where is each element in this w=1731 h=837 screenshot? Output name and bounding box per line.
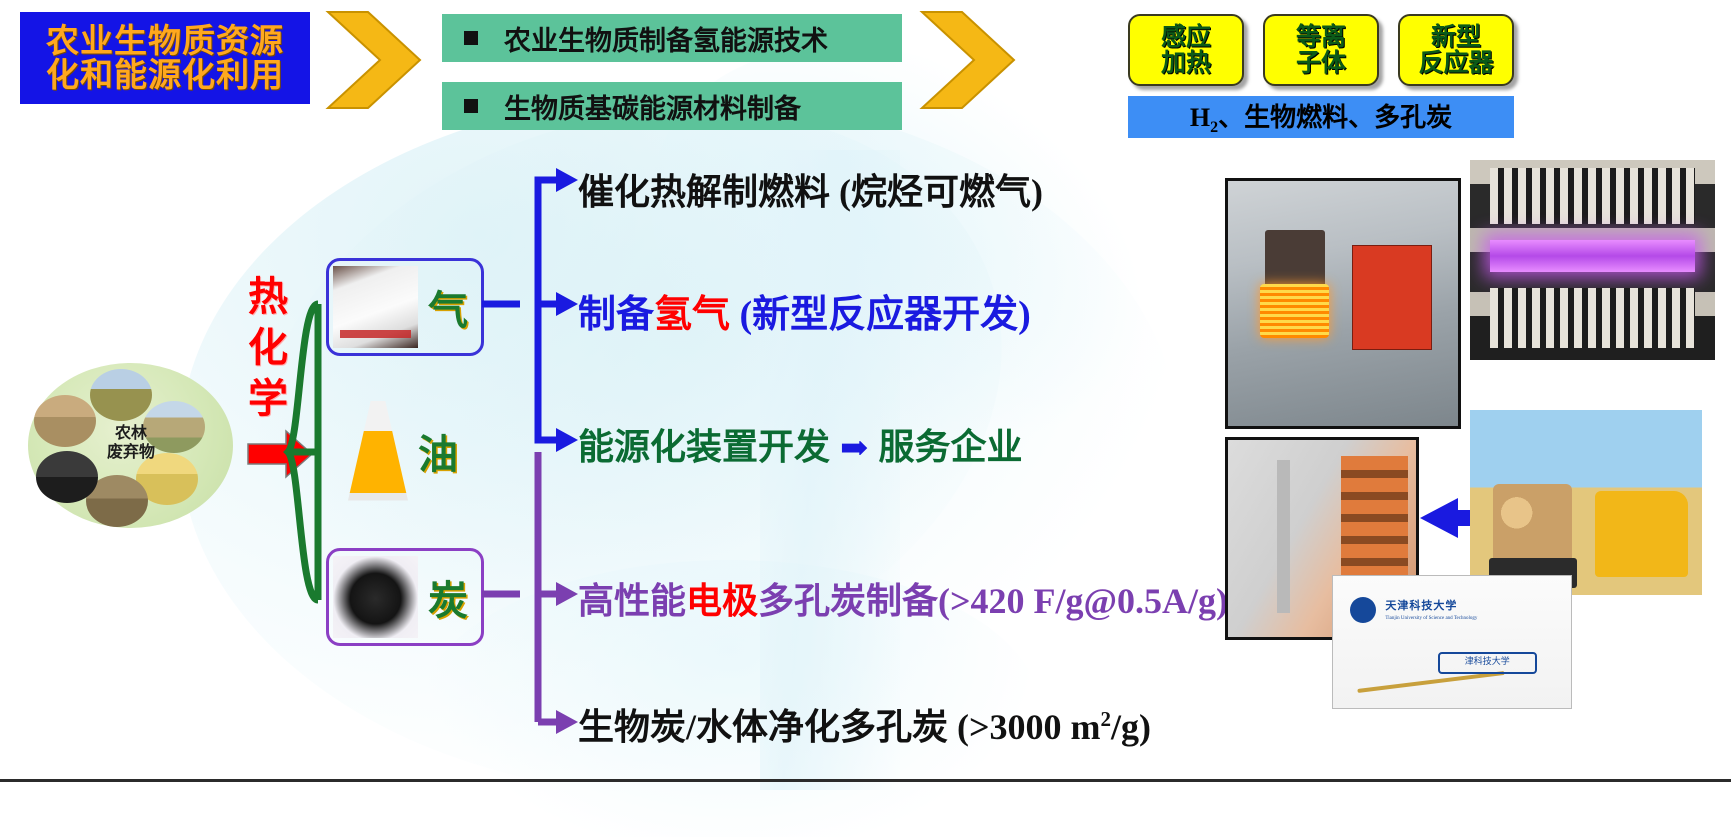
- straw-field-photo: [1470, 410, 1702, 595]
- biomass-thumb-char: [36, 451, 98, 503]
- induction-coil-glow: [1260, 284, 1329, 338]
- char-powder-photo: [333, 556, 418, 638]
- main-title-box: 农业生物质资源 化和能源化利用: [20, 12, 310, 104]
- tech-box-induction-heating: 感应 加热: [1128, 14, 1244, 86]
- induction-heating-photo: [1225, 178, 1461, 429]
- process-char-3: 学: [246, 374, 290, 425]
- biomass-thumb-straw-field: [90, 369, 152, 421]
- oil-flask-photo: [348, 401, 408, 501]
- university-logo-photo: 天津科技大学 Tianjin University of Science and…: [1332, 575, 1572, 709]
- branch-char: 炭: [326, 548, 484, 646]
- branch-oil: 油: [326, 398, 478, 503]
- biomass-thumb-wood-chips: [34, 395, 96, 447]
- flow-4-highlight: 电极: [686, 581, 758, 621]
- induction-workpiece: [1265, 230, 1325, 289]
- logo-badge-label: 津科技大学: [1438, 652, 1537, 674]
- bullet-square-icon: [464, 31, 478, 45]
- flow-line-catalytic-pyrolysis: 催化热解制燃料 (烷烃可燃气): [578, 163, 1043, 215]
- bottom-divider: [0, 779, 1731, 782]
- branch-gas: 气: [326, 258, 484, 356]
- bullet-square-icon: [464, 99, 478, 113]
- plasma-electrode-top: [1490, 168, 1696, 224]
- university-name-label: 天津科技大学: [1385, 597, 1457, 613]
- red-arrow-icon: [246, 428, 314, 485]
- background-swoosh: [760, 150, 900, 790]
- flow-4-pre: 高性能: [578, 581, 686, 621]
- flow-3-pre: 能源化装置开发: [578, 427, 830, 467]
- biomass-source-label-line-2: 废弃物: [90, 444, 172, 463]
- university-seal-icon: [1350, 597, 1376, 623]
- logo-pen-decor: [1357, 671, 1504, 693]
- tech-box-3-line-1: 新型: [1431, 24, 1481, 50]
- main-title-line-1: 农业生物质资源: [46, 24, 284, 58]
- main-title-line-2: 化和能源化利用: [46, 58, 284, 92]
- biomass-source-label: 农林 废弃物: [90, 425, 172, 463]
- university-subtitle-label: Tianjin University of Science and Techno…: [1385, 616, 1477, 621]
- biomass-source-label-line-1: 农林: [90, 425, 172, 444]
- tech-box-new-reactor: 新型 反应器: [1398, 14, 1514, 86]
- plasma-reactor-photo: [1470, 160, 1715, 360]
- process-char-2: 化: [246, 323, 290, 374]
- tech-box-3-line-2: 反应器: [1418, 50, 1493, 76]
- flow-2-highlight: 氢气: [654, 294, 730, 336]
- tech-box-2-line-2: 子体: [1296, 50, 1346, 76]
- thermochemical-process-label: 热 化 学: [246, 272, 290, 426]
- field-loader-machine: [1595, 491, 1688, 576]
- gas-bag-photo: [333, 266, 418, 348]
- products-bar-label: H2、生物燃料、多孔炭: [1190, 97, 1452, 137]
- branch-oil-label: 油: [418, 422, 458, 480]
- flow-2-pre: 制备: [578, 294, 654, 336]
- tech-box-1-line-1: 感应: [1161, 24, 1211, 50]
- background-swoosh: [182, 16, 1078, 783]
- flow-3-post: 服务企业: [879, 427, 1023, 467]
- flow-line-energy-equipment: 能源化装置开发➡服务企业: [578, 418, 1023, 470]
- chevron-right-icon-2: [916, 10, 1020, 110]
- flow-5-post: /g): [1111, 707, 1151, 747]
- flow-5-pre: 生物炭/水体净化多孔炭 (>3000 m: [578, 707, 1101, 747]
- process-char-1: 热: [246, 272, 290, 323]
- branch-char-label: 炭: [428, 568, 468, 626]
- header-green-item-1: 农业生物质制备氢能源技术: [442, 14, 902, 62]
- header-green-item-1-label: 农业生物质制备氢能源技术: [504, 19, 828, 58]
- flow-4-post: 多孔炭制备(>420 F/g@0.5A/g): [758, 581, 1228, 621]
- flow-line-biochar-water-purification: 生物炭/水体净化多孔炭 (>3000 m2/g): [578, 698, 1151, 750]
- flow-2-post: (新型反应器开发): [730, 294, 1031, 336]
- header-green-item-2: 生物质基碳能源材料制备: [442, 82, 902, 130]
- flow-line-electrode-porous-carbon: 高性能电极多孔炭制备(>420 F/g@0.5A/g): [578, 572, 1228, 624]
- inline-arrow-icon: ➡: [830, 430, 879, 467]
- tech-box-2-line-1: 等离: [1296, 24, 1346, 50]
- products-bar: H2、生物燃料、多孔炭: [1128, 96, 1514, 138]
- plasma-electrode-bottom: [1490, 288, 1696, 348]
- branch-gas-label: 气: [428, 278, 468, 336]
- chevron-right-icon-1: [322, 10, 426, 110]
- tech-box-plasma: 等离 子体: [1263, 14, 1379, 86]
- flow-line-hydrogen-production: 制备氢气 (新型反应器开发): [578, 283, 1031, 338]
- biomass-source-circle: 农林 废弃物: [28, 363, 233, 528]
- flow-5-superscript: 2: [1101, 707, 1112, 731]
- plasma-glow: [1490, 240, 1696, 272]
- plant-column: [1277, 460, 1290, 614]
- tech-box-1-line-2: 加热: [1161, 50, 1211, 76]
- slide-canvas: 农业生物质资源 化和能源化利用 农业生物质制备氢能源技术 生物质基碳能源材料制备…: [0, 0, 1731, 837]
- header-green-item-2-label: 生物质基碳能源材料制备: [504, 87, 801, 126]
- induction-power-supply: [1352, 245, 1432, 350]
